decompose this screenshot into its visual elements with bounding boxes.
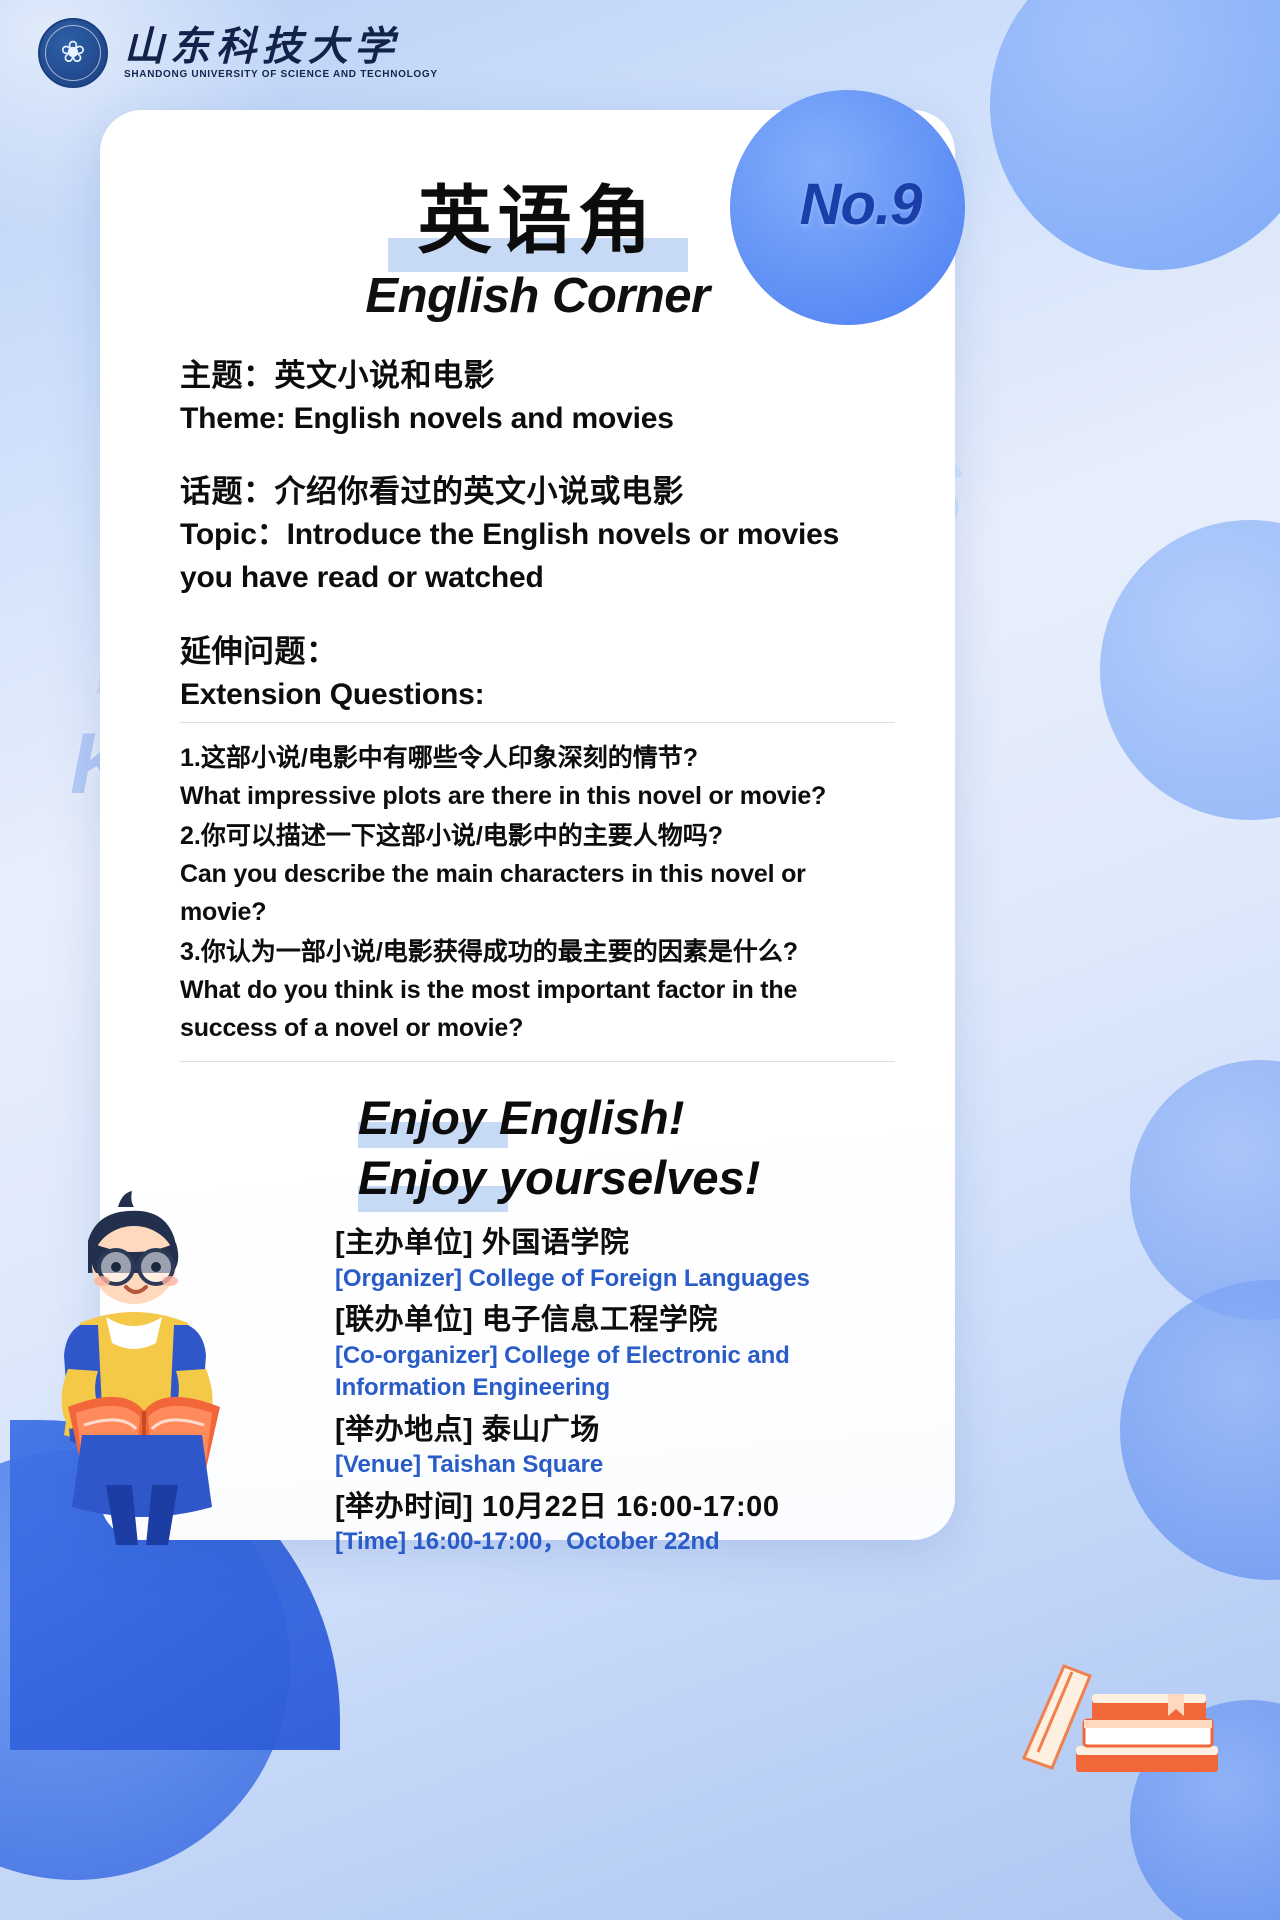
question-3-cn: 3.你认为一部小说/电影获得成功的最主要的因素是什么? [180,933,895,971]
time-en: [Time] 16:00-17:00，October 22nd [335,1526,895,1558]
venue-cn: [举办地点] 泰山广场 [335,1411,895,1450]
university-emblem-icon: ❀ [38,18,108,88]
extension-heading-cn: 延伸问题： [180,630,895,674]
coorganizer-cn: [联办单位] 电子信息工程学院 [335,1301,895,1340]
topic-line-en: Topic：Introduce the English novels or mo… [180,514,895,599]
theme-block: 主题：英文小说和电影 Theme: English novels and mov… [180,354,895,441]
university-logo: ❀ 山东科技大学 SHANDONG UNIVERSITY OF SCIENCE … [38,18,438,88]
page-title-en: English Corner [180,268,895,324]
venue-en: [Venue] Taishan Square [335,1449,895,1481]
topic-line-cn: 话题：介绍你看过的英文小说或电影 [180,470,895,514]
university-name-cn: 山东科技大学 [124,27,438,67]
stack-of-books-illustration [1018,1640,1228,1780]
theme-line-en: Theme: English novels and movies [180,398,895,441]
university-name: 山东科技大学 SHANDONG UNIVERSITY OF SCIENCE AN… [124,27,438,80]
coorganizer-en: [Co-organizer] College of Electronic and… [335,1340,895,1404]
question-1-cn: 1.这部小说/电影中有哪些令人印象深刻的情节? [180,739,895,777]
extension-heading-block: 延伸问题： Extension Questions: [180,630,895,724]
question-2-en: Can you describe the main characters in … [180,855,895,931]
page-title-cn: 英语角 [180,182,895,260]
question-3-en: What do you think is the most important … [180,971,895,1047]
extension-heading-en: Extension Questions: [180,674,895,717]
divider-2 [180,1061,895,1062]
decorative-circle-top-right [990,0,1280,270]
question-item-3: 3.你认为一部小说/电影获得成功的最主要的因素是什么? What do you … [180,933,895,1047]
emblem-glyph: ❀ [60,38,85,68]
question-2-cn: 2.你可以描述一下这部小说/电影中的主要人物吗? [180,817,895,855]
poster-title-cn-wrapper: 英语角 [180,182,895,260]
decorative-circle-lower-right-2 [1120,1280,1280,1580]
boy-reading-book-illustration [10,1185,320,1545]
slogan-line-1: Enjoy English! [358,1088,895,1148]
question-1-en: What impressive plots are there in this … [180,777,895,815]
slogan-line-2: Enjoy yourselves! [358,1148,895,1208]
organizer-cn: [主办单位] 外国语学院 [335,1224,895,1263]
question-item-1: 1.这部小说/电影中有哪些令人印象深刻的情节? What impressive … [180,739,895,815]
university-name-en: SHANDONG UNIVERSITY OF SCIENCE AND TECHN… [124,69,438,80]
question-item-2: 2.你可以描述一下这部小说/电影中的主要人物吗? Can you describ… [180,817,895,931]
organizer-en: [Organizer] College of Foreign Languages [335,1263,895,1295]
theme-line-cn: 主题：英文小说和电影 [180,354,895,398]
topic-block: 话题：介绍你看过的英文小说或电影 Topic：Introduce the Eng… [180,470,895,599]
decorative-circle-mid-right [1100,520,1280,820]
time-cn: [举办时间] 10月22日 16:00-17:00 [335,1488,895,1527]
divider [180,722,895,723]
